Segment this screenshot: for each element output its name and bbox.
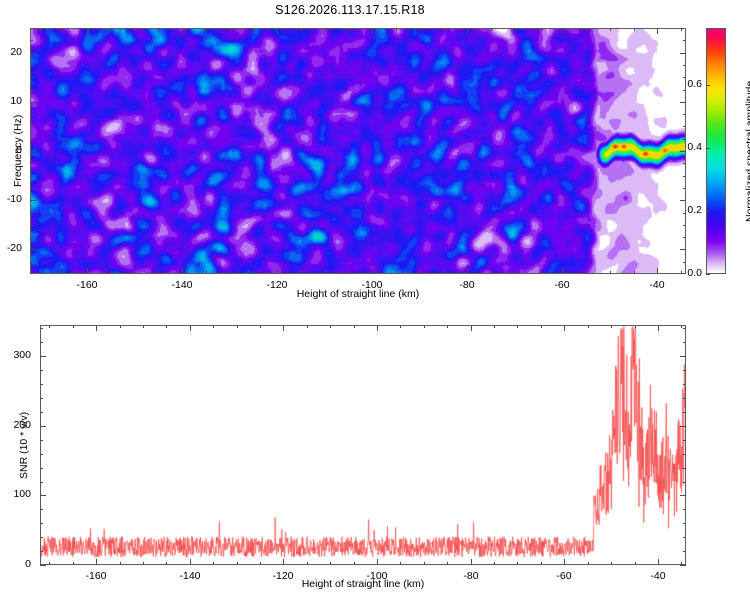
spectrogram-y-minor-tick [30, 90, 33, 91]
spectrogram-x-minor-tick [396, 271, 397, 274]
snr-x-minor-tick [237, 562, 238, 565]
spectrogram-y-tick [30, 249, 36, 250]
spectrogram-y-minor-tick-right [683, 237, 686, 238]
spectrogram-y-tick-right [680, 200, 686, 201]
snr-trace [41, 326, 685, 564]
snr-x-minor-tick-top [307, 325, 308, 328]
spectrogram-y-minor-tick-right [683, 163, 686, 164]
spectrogram-x-minor-tick-top [230, 28, 231, 31]
snr-x-minor-tick-top [213, 325, 214, 328]
spectrogram-y-minor-tick-right [683, 65, 686, 66]
snr-x-minor-tick-top [635, 325, 636, 328]
snr-y-tick-label: 0 [0, 558, 31, 570]
snr-y-minor-tick-right [683, 412, 686, 413]
snr-x-minor-tick [354, 562, 355, 565]
spectrogram-y-minor-tick-right [683, 126, 686, 127]
snr-y-axis-label: SNR (10 * v/v) [18, 411, 30, 478]
spectrogram-x-tick-top [372, 28, 373, 34]
snr-y-minor-tick [40, 328, 43, 329]
spectrogram-y-minor-tick-right [683, 90, 686, 91]
spectrogram-y-tick-right [680, 102, 686, 103]
spectrogram-y-tick-label: -20 [0, 242, 22, 254]
spectrogram-y-minor-tick [30, 114, 33, 115]
snr-x-tick [564, 559, 565, 565]
spectrogram-y-minor-tick [30, 163, 33, 164]
snr-y-tick-right [680, 426, 686, 427]
snr-x-tick [283, 559, 284, 565]
spectrogram-x-minor-tick [40, 271, 41, 274]
spectrogram-y-tick-right [680, 249, 686, 250]
snr-x-minor-tick-top [588, 325, 589, 328]
spectrogram-x-minor-tick [348, 271, 349, 274]
snr-x-minor-tick [213, 562, 214, 565]
spectrogram-x-tick-top [467, 28, 468, 34]
colorbar-tick-label: 0.0 [674, 267, 702, 279]
spectrogram-x-minor-tick-top [396, 28, 397, 31]
snr-y-minor-tick-right [683, 440, 686, 441]
snr-x-tick [471, 559, 472, 565]
spectrogram-x-minor-tick [253, 271, 254, 274]
snr-x-tick-top [471, 325, 472, 331]
spectrogram-x-minor-tick [586, 271, 587, 274]
snr-y-minor-tick-right [683, 328, 686, 329]
spectrogram-x-minor-tick [610, 271, 611, 274]
colorbar-tick [706, 148, 710, 149]
snr-x-minor-tick [143, 562, 144, 565]
spectrogram-x-minor-tick-top [63, 28, 64, 31]
spectrogram-y-minor-tick-right [683, 139, 686, 140]
spectrogram-y-minor-tick [30, 176, 33, 177]
spectrogram-x-minor-tick [63, 271, 64, 274]
snr-x-minor-tick [611, 562, 612, 565]
spectrogram-x-minor-tick-top [40, 28, 41, 31]
snr-y-tick-right [680, 495, 686, 496]
snr-x-minor-tick [120, 562, 121, 565]
spectrogram-x-minor-tick-top [515, 28, 516, 31]
snr-x-tick-top [190, 325, 191, 331]
spectrogram-x-minor-tick-top [586, 28, 587, 31]
spectrogram-x-minor-tick-top [681, 28, 682, 31]
spectrogram-x-minor-tick-top [206, 28, 207, 31]
snr-x-minor-tick [73, 562, 74, 565]
spectrogram-x-minor-tick-top [253, 28, 254, 31]
spectrogram-plot-area [31, 29, 685, 273]
spectrogram-x-axis-label: Height of straight line (km) [30, 288, 686, 300]
spectrogram-y-minor-tick-right [683, 262, 686, 263]
spectrogram-y-minor-tick-right [683, 176, 686, 177]
snr-y-minor-tick [40, 384, 43, 385]
snr-x-minor-tick-top [400, 325, 401, 328]
spectrogram-x-minor-tick [325, 271, 326, 274]
spectrogram-x-tick [277, 268, 278, 274]
snr-x-minor-tick [330, 562, 331, 565]
snr-x-minor-tick [635, 562, 636, 565]
snr-x-minor-tick-top [681, 325, 682, 328]
spectrogram-x-minor-tick [444, 271, 445, 274]
snr-x-tick [190, 559, 191, 565]
spectrogram-x-minor-tick [420, 271, 421, 274]
spectrogram-x-tick-top [657, 28, 658, 34]
snr-y-minor-tick [40, 370, 43, 371]
snr-x-tick-top [564, 325, 565, 331]
snr-x-tick [96, 559, 97, 565]
colorbar-gradient [707, 29, 725, 273]
snr-y-tick-label: 100 [0, 488, 31, 500]
colorbar-axes [706, 28, 726, 274]
snr-x-tick-top [377, 325, 378, 331]
spectrogram-x-tick [657, 268, 658, 274]
snr-y-minor-tick [40, 551, 43, 552]
snr-axes [40, 325, 686, 565]
spectrogram-y-tick [30, 200, 36, 201]
snr-y-minor-tick [40, 398, 43, 399]
spectrogram-x-tick-top [87, 28, 88, 34]
snr-x-minor-tick-top [120, 325, 121, 328]
spectrogram-x-tick-top [562, 28, 563, 34]
spectrogram-x-minor-tick-top [491, 28, 492, 31]
snr-y-minor-tick [40, 412, 43, 413]
snr-x-minor-tick-top [143, 325, 144, 328]
snr-y-minor-tick-right [683, 551, 686, 552]
spectrogram-image [31, 29, 685, 273]
snr-y-minor-tick-right [683, 509, 686, 510]
snr-x-tick-top [283, 325, 284, 331]
spectrogram-y-minor-tick-right [683, 40, 686, 41]
spectrogram-x-minor-tick [206, 271, 207, 274]
spectrogram-y-minor-tick [30, 188, 33, 189]
snr-y-minor-tick-right [683, 482, 686, 483]
spectrogram-x-minor-tick-top [135, 28, 136, 31]
snr-x-minor-tick-top [424, 325, 425, 328]
spectrogram-x-tick-top [277, 28, 278, 34]
spectrogram-y-tick [30, 151, 36, 152]
spectrogram-y-minor-tick [30, 262, 33, 263]
snr-x-minor-tick-top [166, 325, 167, 328]
snr-x-minor-tick-top [237, 325, 238, 328]
snr-y-minor-tick-right [683, 398, 686, 399]
spectrogram-x-minor-tick [491, 271, 492, 274]
spectrogram-x-minor-tick-top [610, 28, 611, 31]
snr-y-minor-tick [40, 468, 43, 469]
spectrogram-y-minor-tick-right [683, 225, 686, 226]
snr-y-tick [40, 565, 46, 566]
snr-x-axis-label: Height of straight line (km) [40, 578, 686, 590]
colorbar-tick [706, 85, 710, 86]
snr-x-minor-tick [541, 562, 542, 565]
snr-x-minor-tick-top [541, 325, 542, 328]
spectrogram-x-minor-tick-top [301, 28, 302, 31]
snr-x-minor-tick [166, 562, 167, 565]
spectrogram-y-tick [30, 102, 36, 103]
snr-x-minor-tick [447, 562, 448, 565]
snr-x-minor-tick [517, 562, 518, 565]
snr-x-tick [658, 559, 659, 565]
spectrogram-x-minor-tick [301, 271, 302, 274]
snr-y-tick-right [680, 565, 686, 566]
snr-x-tick [377, 559, 378, 565]
spectrogram-y-minor-tick [30, 225, 33, 226]
snr-y-tick-right [680, 356, 686, 357]
snr-y-minor-tick-right [683, 468, 686, 469]
spectrogram-x-tick [372, 268, 373, 274]
spectrogram-x-minor-tick [634, 271, 635, 274]
spectrogram-y-minor-tick [30, 65, 33, 66]
spectrogram-y-tick-label: 20 [0, 46, 22, 58]
snr-y-tick [40, 495, 46, 496]
spectrogram-x-minor-tick-top [634, 28, 635, 31]
snr-y-minor-tick [40, 440, 43, 441]
spectrogram-y-minor-tick [30, 237, 33, 238]
snr-plot-area [41, 326, 685, 564]
spectrogram-x-minor-tick [230, 271, 231, 274]
snr-y-minor-tick [40, 342, 43, 343]
snr-y-tick-label: 300 [0, 349, 31, 361]
snr-x-minor-tick-top [73, 325, 74, 328]
figure-root: S126.2026.113.17.15.R18 -160-140-120-100… [0, 0, 750, 600]
spectrogram-y-minor-tick [30, 126, 33, 127]
spectrogram-x-tick-top [182, 28, 183, 34]
snr-x-tick-top [658, 325, 659, 331]
snr-x-minor-tick-top [494, 325, 495, 328]
spectrogram-y-minor-tick [30, 77, 33, 78]
snr-y-minor-tick-right [683, 537, 686, 538]
colorbar-tick [706, 274, 710, 275]
spectrogram-x-tick [182, 268, 183, 274]
snr-y-minor-tick-right [683, 370, 686, 371]
spectrogram-x-minor-tick-top [348, 28, 349, 31]
snr-y-minor-tick [40, 537, 43, 538]
snr-y-minor-tick-right [683, 342, 686, 343]
spectrogram-x-minor-tick-top [539, 28, 540, 31]
spectrogram-x-minor-tick-top [158, 28, 159, 31]
snr-x-minor-tick-top [260, 325, 261, 328]
snr-x-tick-top [96, 325, 97, 331]
snr-y-minor-tick [40, 482, 43, 483]
spectrogram-y-tick-label: -10 [0, 193, 22, 205]
spectrogram-x-minor-tick [135, 271, 136, 274]
spectrogram-x-minor-tick-top [325, 28, 326, 31]
snr-y-minor-tick-right [683, 523, 686, 524]
colorbar-tick-label: 0.4 [674, 141, 702, 153]
spectrogram-y-minor-tick [30, 213, 33, 214]
spectrogram-y-minor-tick [30, 40, 33, 41]
spectrogram-y-minor-tick [30, 139, 33, 140]
snr-y-minor-tick-right [683, 454, 686, 455]
spectrogram-y-minor-tick-right [683, 188, 686, 189]
colorbar-tick-label: 0.2 [674, 204, 702, 216]
snr-x-minor-tick [424, 562, 425, 565]
snr-y-minor-tick-right [683, 384, 686, 385]
snr-y-tick [40, 356, 46, 357]
spectrogram-x-tick [467, 268, 468, 274]
spectrogram-x-minor-tick-top [444, 28, 445, 31]
snr-x-minor-tick-top [447, 325, 448, 328]
colorbar-tick [706, 211, 710, 212]
snr-x-minor-tick-top [49, 325, 50, 328]
snr-x-minor-tick-top [611, 325, 612, 328]
page-title: S126.2026.113.17.15.R18 [0, 3, 700, 17]
snr-x-minor-tick [307, 562, 308, 565]
snr-x-minor-tick-top [354, 325, 355, 328]
spectrogram-x-minor-tick-top [111, 28, 112, 31]
snr-x-minor-tick [588, 562, 589, 565]
spectrogram-y-tick [30, 53, 36, 54]
snr-x-minor-tick [260, 562, 261, 565]
spectrogram-x-minor-tick-top [420, 28, 421, 31]
spectrogram-x-minor-tick [111, 271, 112, 274]
spectrogram-x-tick [562, 268, 563, 274]
snr-x-minor-tick [494, 562, 495, 565]
snr-x-minor-tick [400, 562, 401, 565]
spectrogram-axes [30, 28, 686, 274]
spectrogram-x-tick [87, 268, 88, 274]
snr-y-minor-tick [40, 523, 43, 524]
spectrogram-x-minor-tick [539, 271, 540, 274]
snr-x-minor-tick-top [517, 325, 518, 328]
spectrogram-x-minor-tick [158, 271, 159, 274]
colorbar-label: Normalized spectral amplitude [744, 80, 750, 221]
spectrogram-y-tick-label: 10 [0, 95, 22, 107]
snr-y-tick [40, 426, 46, 427]
snr-x-minor-tick [49, 562, 50, 565]
spectrogram-y-minor-tick-right [683, 114, 686, 115]
snr-x-minor-tick-top [330, 325, 331, 328]
spectrogram-y-axis-label: Frequency (Hz) [12, 115, 24, 187]
spectrogram-x-minor-tick [515, 271, 516, 274]
snr-y-minor-tick [40, 454, 43, 455]
colorbar-tick-label: 0.6 [674, 78, 702, 90]
spectrogram-y-tick-right [680, 53, 686, 54]
snr-y-minor-tick [40, 509, 43, 510]
